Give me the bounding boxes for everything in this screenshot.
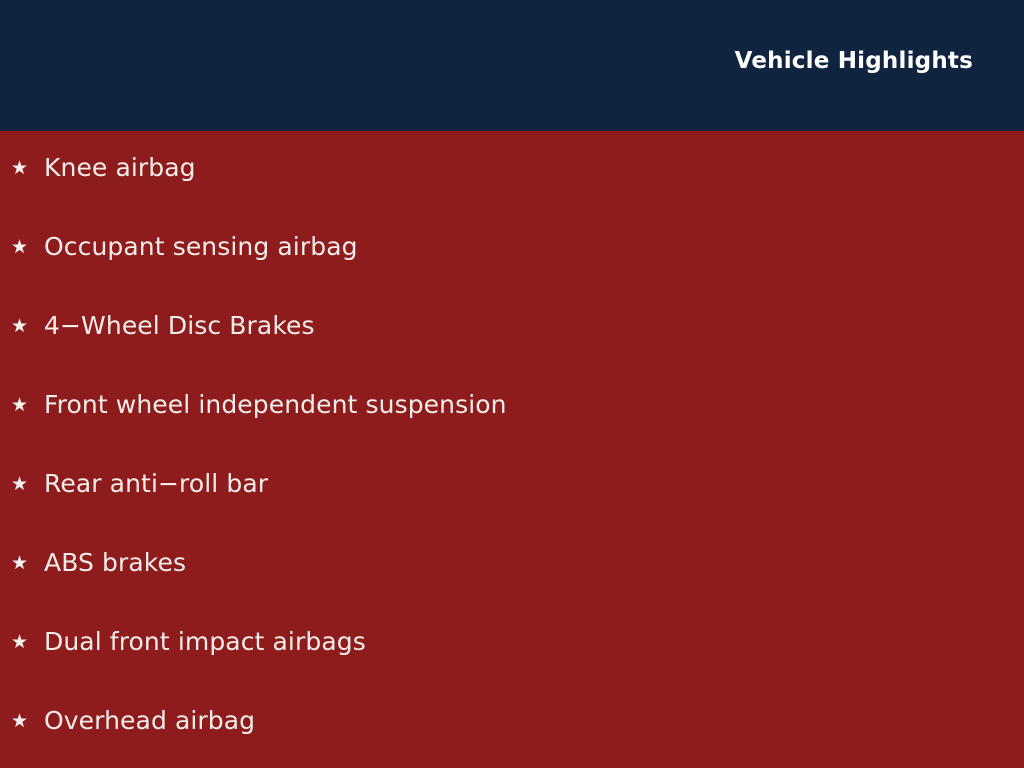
star-bullet-icon: ★ bbox=[11, 317, 31, 336]
star-bullet-icon: ★ bbox=[11, 159, 31, 178]
list-item-label: Occupant sensing airbag bbox=[44, 234, 358, 259]
list-item-label: ABS brakes bbox=[44, 550, 186, 575]
star-bullet-icon: ★ bbox=[11, 475, 31, 494]
list-item-label: Rear anti−roll bar bbox=[44, 471, 268, 496]
list-item: ★ Occupant sensing airbag bbox=[11, 234, 358, 268]
list-item: ★ Dual front impact airbags bbox=[11, 629, 366, 663]
list-item: ★ Front wheel independent suspension bbox=[11, 392, 507, 426]
list-item-label: Knee airbag bbox=[44, 155, 196, 180]
list-item: ★ Rear anti−roll bar bbox=[11, 471, 268, 505]
vehicle-highlights-slide: Vehicle Highlights ★ Knee airbag ★ Occup… bbox=[0, 0, 1024, 768]
list-item-label: Dual front impact airbags bbox=[44, 629, 366, 654]
highlights-panel: ★ Knee airbag ★ Occupant sensing airbag … bbox=[0, 131, 1024, 768]
list-item: ★ 4−Wheel Disc Brakes bbox=[11, 313, 315, 347]
list-item-label: Front wheel independent suspension bbox=[44, 392, 507, 417]
header-band: Vehicle Highlights bbox=[0, 0, 1024, 131]
list-item: ★ Knee airbag bbox=[11, 155, 196, 189]
list-item: ★ Overhead airbag bbox=[11, 708, 255, 742]
star-bullet-icon: ★ bbox=[11, 633, 31, 652]
star-bullet-icon: ★ bbox=[11, 712, 31, 731]
page-title: Vehicle Highlights bbox=[735, 50, 973, 73]
star-bullet-icon: ★ bbox=[11, 238, 31, 257]
star-bullet-icon: ★ bbox=[11, 554, 31, 573]
list-item: ★ ABS brakes bbox=[11, 550, 186, 584]
list-item-label: Overhead airbag bbox=[44, 708, 255, 733]
list-item-label: 4−Wheel Disc Brakes bbox=[44, 313, 315, 338]
star-bullet-icon: ★ bbox=[11, 396, 31, 415]
